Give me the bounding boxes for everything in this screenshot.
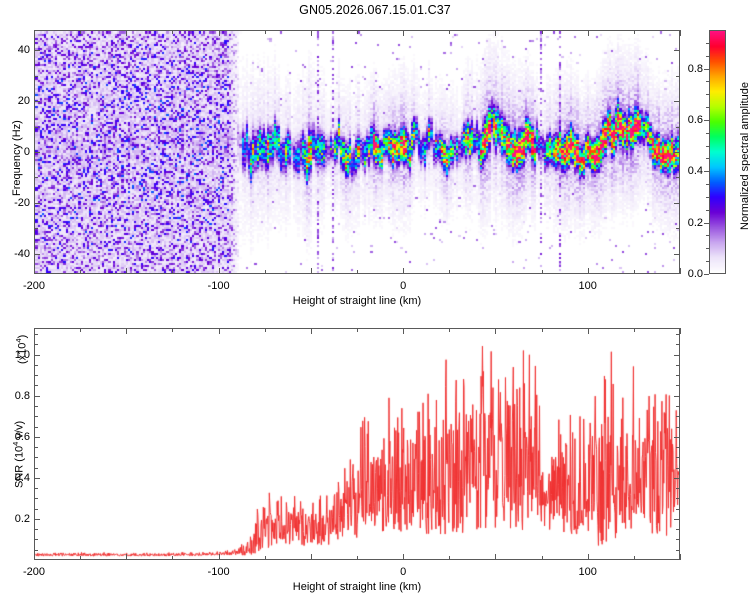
- tick-mark: [588, 554, 589, 560]
- figure-title: GN05.2026.067.15.01.C37: [0, 3, 750, 17]
- tick-mark: [676, 375, 680, 376]
- tick-mark: [706, 197, 709, 198]
- tick-mark: [542, 556, 543, 560]
- tick-mark: [676, 416, 680, 417]
- tick-mark: [34, 396, 40, 397]
- tick-mark: [34, 152, 40, 153]
- tick-mark: [706, 261, 709, 262]
- snr-xtick-label: 0: [400, 566, 406, 578]
- tick-mark: [588, 328, 589, 334]
- tick-mark: [219, 268, 220, 274]
- tick-mark: [34, 529, 38, 530]
- snr-yaxis-title: SNR (104 v/v): [11, 421, 26, 488]
- snr-panel: [34, 328, 680, 560]
- tick-mark: [706, 248, 709, 249]
- tick-mark: [676, 344, 680, 345]
- tick-mark: [704, 274, 709, 275]
- tick-mark: [706, 235, 709, 236]
- tick-mark: [126, 554, 127, 560]
- tick-mark: [34, 228, 38, 229]
- tick-mark: [403, 554, 404, 560]
- tick-mark: [126, 30, 127, 36]
- spectrogram-xtick-label: -200: [23, 280, 45, 292]
- tick-mark: [265, 270, 266, 274]
- tick-mark: [704, 223, 709, 224]
- tick-mark: [676, 457, 680, 458]
- tick-mark: [357, 270, 358, 274]
- tick-mark: [34, 268, 35, 274]
- snr-trace: [35, 329, 679, 559]
- tick-mark: [706, 158, 709, 159]
- tick-mark: [674, 519, 680, 520]
- tick-mark: [34, 50, 40, 51]
- tick-mark: [704, 171, 709, 172]
- tick-mark: [674, 478, 680, 479]
- tick-mark: [34, 127, 38, 128]
- tick-mark: [34, 498, 38, 499]
- tick-mark: [34, 519, 40, 520]
- tick-mark: [542, 30, 543, 34]
- tick-mark: [706, 81, 709, 82]
- tick-mark: [676, 334, 680, 335]
- tick-mark: [495, 328, 496, 334]
- snr-xtick-label: -200: [23, 566, 45, 578]
- tick-mark: [706, 94, 709, 95]
- spectrogram-xaxis-title: Height of straight line (km): [272, 295, 442, 307]
- snr-xtick-label: -100: [208, 566, 230, 578]
- tick-mark: [311, 268, 312, 274]
- colorbar-tick-label: 0.8: [681, 63, 703, 75]
- tick-mark: [680, 554, 681, 560]
- tick-mark: [34, 478, 40, 479]
- tick-mark: [676, 529, 680, 530]
- tick-mark: [674, 101, 680, 102]
- tick-mark: [676, 488, 680, 489]
- tick-mark: [676, 406, 680, 407]
- tick-mark: [706, 133, 709, 134]
- tick-mark: [34, 375, 38, 376]
- tick-mark: [676, 385, 680, 386]
- tick-mark: [34, 177, 38, 178]
- tick-mark: [634, 556, 635, 560]
- tick-mark: [34, 101, 40, 102]
- tick-mark: [172, 30, 173, 34]
- tick-mark: [542, 328, 543, 332]
- tick-mark: [674, 50, 680, 51]
- tick-mark: [634, 328, 635, 332]
- snr-xaxis-title: Height of straight line (km): [272, 581, 442, 593]
- tick-mark: [265, 30, 266, 34]
- tick-mark: [449, 270, 450, 274]
- tick-mark: [34, 406, 38, 407]
- tick-mark: [706, 107, 709, 108]
- tick-mark: [588, 268, 589, 274]
- tick-mark: [634, 270, 635, 274]
- tick-mark: [311, 328, 312, 334]
- tick-mark: [542, 270, 543, 274]
- tick-mark: [676, 127, 680, 128]
- tick-mark: [706, 210, 709, 211]
- tick-mark: [265, 556, 266, 560]
- tick-mark: [676, 539, 680, 540]
- tick-mark: [704, 69, 709, 70]
- tick-mark: [34, 437, 40, 438]
- tick-mark: [495, 30, 496, 36]
- tick-mark: [495, 554, 496, 560]
- spectrogram-ytick-label: -20: [6, 197, 30, 209]
- tick-mark: [80, 556, 81, 560]
- tick-mark: [311, 554, 312, 560]
- tick-mark: [676, 550, 680, 551]
- tick-mark: [172, 328, 173, 332]
- tick-mark: [676, 427, 680, 428]
- tick-mark: [676, 365, 680, 366]
- snr-ytick-label: 0.2: [6, 513, 30, 525]
- tick-mark: [676, 447, 680, 448]
- spectrogram-ytick-label: 40: [6, 44, 30, 56]
- spectrogram-ytick-label: -40: [6, 248, 30, 260]
- tick-mark: [676, 498, 680, 499]
- snr-ytick-label: 0.8: [6, 390, 30, 402]
- tick-mark: [265, 328, 266, 332]
- tick-mark: [357, 30, 358, 34]
- tick-mark: [34, 76, 38, 77]
- tick-mark: [34, 488, 38, 489]
- tick-mark: [219, 328, 220, 334]
- tick-mark: [80, 270, 81, 274]
- tick-mark: [34, 468, 38, 469]
- tick-mark: [674, 396, 680, 397]
- tick-mark: [676, 468, 680, 469]
- tick-mark: [34, 447, 38, 448]
- spectrogram-xtick-label: 100: [579, 280, 597, 292]
- tick-mark: [172, 556, 173, 560]
- tick-mark: [674, 254, 680, 255]
- colorbar-tick-label: 0.6: [681, 114, 703, 126]
- tick-mark: [34, 416, 38, 417]
- tick-mark: [34, 509, 38, 510]
- tick-mark: [34, 203, 40, 204]
- tick-mark: [34, 254, 40, 255]
- colorbar-tick-label: 0.2: [681, 217, 703, 229]
- tick-mark: [706, 184, 709, 185]
- figure-root: GN05.2026.067.15.01.C37 -200-1000100-40-…: [0, 0, 750, 600]
- tick-mark: [674, 355, 680, 356]
- tick-mark: [357, 556, 358, 560]
- tick-mark: [676, 177, 680, 178]
- spectrogram-ytick-label: 20: [6, 95, 30, 107]
- tick-mark: [403, 328, 404, 334]
- spectrogram-xtick-label: -100: [208, 280, 230, 292]
- tick-mark: [634, 30, 635, 34]
- tick-mark: [80, 328, 81, 332]
- tick-mark: [34, 385, 38, 386]
- tick-mark: [449, 30, 450, 34]
- spectrogram-panel: [34, 30, 680, 274]
- tick-mark: [449, 556, 450, 560]
- tick-mark: [126, 328, 127, 334]
- tick-mark: [34, 427, 38, 428]
- tick-mark: [34, 344, 38, 345]
- tick-mark: [219, 30, 220, 36]
- tick-mark: [676, 76, 680, 77]
- tick-mark: [172, 270, 173, 274]
- tick-mark: [449, 328, 450, 332]
- tick-mark: [680, 328, 681, 334]
- tick-mark: [357, 328, 358, 332]
- tick-mark: [219, 554, 220, 560]
- tick-mark: [674, 152, 680, 153]
- tick-mark: [676, 509, 680, 510]
- tick-mark: [34, 539, 38, 540]
- tick-mark: [80, 30, 81, 34]
- tick-mark: [495, 268, 496, 274]
- spectrogram-yaxis-title: Frequency (Hz): [11, 120, 23, 196]
- tick-mark: [34, 30, 35, 36]
- tick-mark: [34, 365, 38, 366]
- tick-mark: [403, 268, 404, 274]
- tick-mark: [706, 43, 709, 44]
- spectrogram-image: [35, 31, 679, 273]
- tick-mark: [674, 437, 680, 438]
- tick-mark: [680, 30, 681, 36]
- tick-mark: [34, 334, 38, 335]
- tick-mark: [676, 228, 680, 229]
- tick-mark: [403, 30, 404, 36]
- colorbar-tick-label: 0.0: [681, 268, 703, 280]
- colorbar-title: Normalized spectral amplitude: [739, 82, 750, 230]
- spectrogram-xtick-label: 0: [400, 280, 406, 292]
- colorbar: [709, 30, 726, 274]
- colorbar-gradient: [710, 31, 725, 273]
- tick-mark: [34, 554, 35, 560]
- snr-exponent-label: (x104): [14, 335, 29, 364]
- tick-mark: [704, 120, 709, 121]
- tick-mark: [34, 550, 38, 551]
- colorbar-tick-label: 0.4: [681, 165, 703, 177]
- tick-mark: [126, 268, 127, 274]
- tick-mark: [674, 203, 680, 204]
- tick-mark: [706, 56, 709, 57]
- tick-mark: [588, 30, 589, 36]
- tick-mark: [34, 457, 38, 458]
- snr-xtick-label: 100: [579, 566, 597, 578]
- tick-mark: [706, 146, 709, 147]
- tick-mark: [311, 30, 312, 36]
- tick-mark: [34, 355, 40, 356]
